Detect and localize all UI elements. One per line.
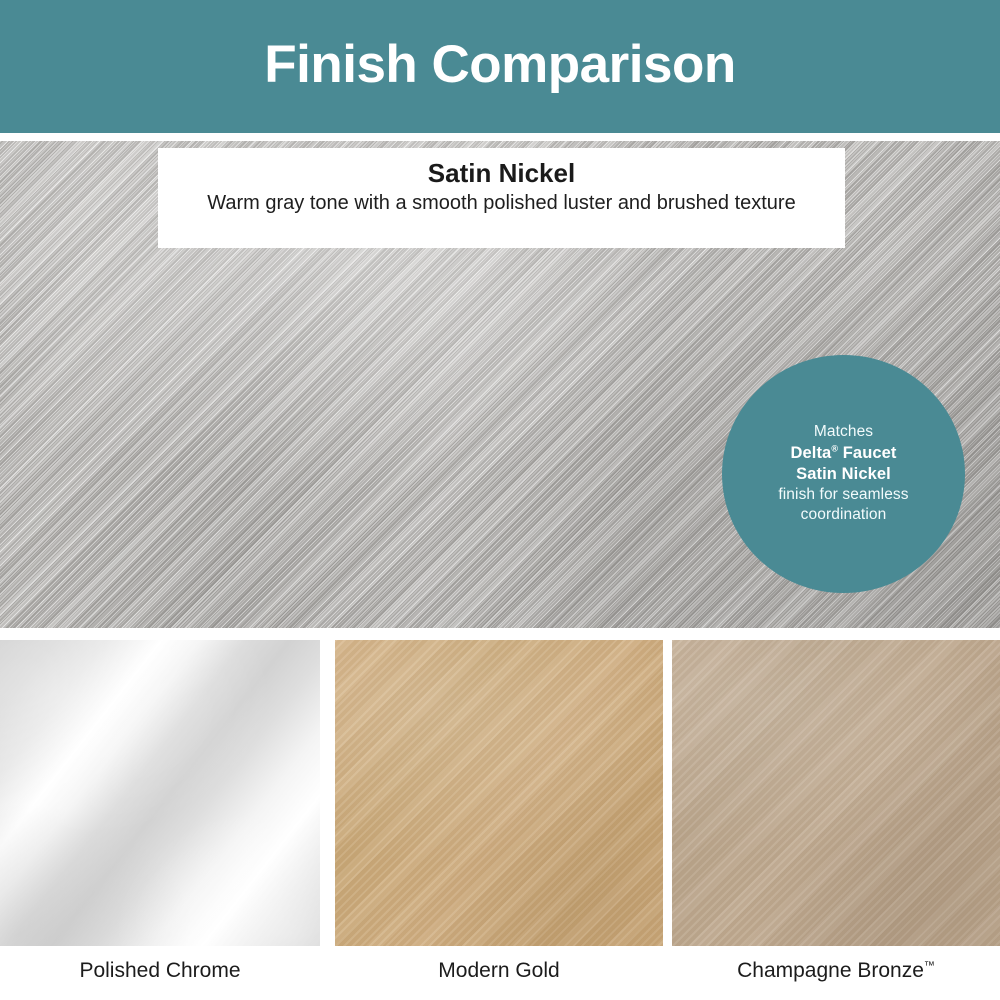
swatch-label-modern-gold: Modern Gold — [335, 958, 663, 983]
badge-line-matches: Matches — [814, 422, 873, 442]
badge-line-satin-nickel: Satin Nickel — [796, 464, 891, 485]
badge-line-finish-for: finish for seamless — [778, 485, 908, 505]
swatch-label-text: Champagne Bronze — [737, 959, 924, 982]
page-header: Finish Comparison — [0, 0, 1000, 133]
finish-description: Warm gray tone with a smooth polished lu… — [180, 190, 823, 218]
badge-line-coordination: coordination — [801, 505, 887, 525]
trademark-icon: ™ — [924, 960, 935, 972]
badge-brand-name: Delta — [790, 444, 831, 462]
finish-info-card: Satin Nickel Warm gray tone with a smoot… — [158, 148, 845, 248]
swatch-tile-polished-chrome — [0, 640, 320, 946]
badge-line-delta-faucet: Delta® Faucet — [790, 443, 896, 464]
badge-brand-suffix: Faucet — [838, 444, 896, 462]
delta-match-badge: Matches Delta® Faucet Satin Nickel finis… — [722, 355, 965, 593]
swatch-row: Polished Chrome Modern Gold Champagne Br… — [0, 640, 1000, 1000]
swatch-tile-modern-gold — [335, 640, 663, 946]
swatch-label-champagne-bronze: Champagne Bronze™ — [672, 958, 1000, 983]
finish-name: Satin Nickel — [180, 158, 823, 188]
swatch-label-polished-chrome: Polished Chrome — [0, 958, 320, 983]
swatch-champagne-bronze[interactable]: Champagne Bronze™ — [672, 640, 1000, 946]
swatch-tile-champagne-bronze — [672, 640, 1000, 946]
swatch-modern-gold[interactable]: Modern Gold — [335, 640, 663, 946]
finish-comparison-page: Finish Comparison Satin Nickel Warm gray… — [0, 0, 1000, 1000]
swatch-polished-chrome[interactable]: Polished Chrome — [0, 640, 320, 946]
page-title: Finish Comparison — [264, 38, 735, 95]
